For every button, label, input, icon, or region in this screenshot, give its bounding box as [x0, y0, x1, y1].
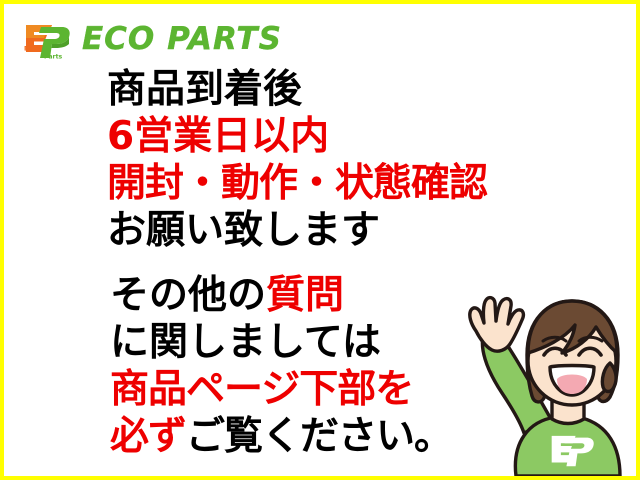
brand-logo: Eco Parts ECO PARTS: [18, 16, 282, 62]
notice-block-arrival: 商品到着後 6営業日以内 開封・動作・状態確認 お願い致します: [107, 66, 487, 254]
notice-line-3: 開封・動作・状態確認: [107, 160, 487, 207]
notice-line-2-seg-1: 6営業日以内: [107, 114, 329, 159]
notice-line-6-seg-1: に関しましては: [110, 320, 381, 365]
notice-line-5-seg-2: 質問: [266, 273, 344, 318]
logo-parts-label: Parts: [44, 54, 63, 61]
logo-eco-label: Eco: [24, 46, 36, 53]
notice-line-6: に関しましては: [110, 319, 452, 366]
eco-parts-logo-icon: Eco Parts: [18, 17, 74, 61]
notice-line-1-seg-1: 商品到着後: [107, 67, 302, 112]
brand-wordmark: ECO PARTS: [82, 24, 282, 55]
eco-parts-notice-banner: Eco Parts ECO PARTS 商品到着後 6営業日以内 開封・動作・状…: [0, 0, 640, 480]
notice-line-8-seg-2: ご覧ください。: [186, 414, 452, 459]
notice-block-questions: その他の質問 に関しましては 商品ページ下部を 必ずご覧ください。: [110, 272, 452, 460]
notice-line-4: お願い致します: [107, 207, 487, 254]
notice-line-7: 商品ページ下部を: [110, 366, 452, 413]
notice-line-1: 商品到着後: [107, 66, 487, 113]
notice-line-3-seg-1: 開封・動作・状態確認: [107, 161, 487, 206]
waving-girl-mascot-icon: [424, 291, 634, 476]
notice-line-8-seg-1: 必ず: [110, 414, 186, 459]
notice-line-2: 6営業日以内: [107, 113, 487, 160]
notice-line-5-seg-1: その他の: [110, 273, 266, 318]
notice-line-5: その他の質問: [110, 272, 452, 319]
notice-line-8: 必ずご覧ください。: [110, 413, 452, 460]
notice-line-4-seg-1: お願い致します: [107, 208, 380, 253]
notice-line-7-seg-1: 商品ページ下部を: [110, 367, 413, 412]
